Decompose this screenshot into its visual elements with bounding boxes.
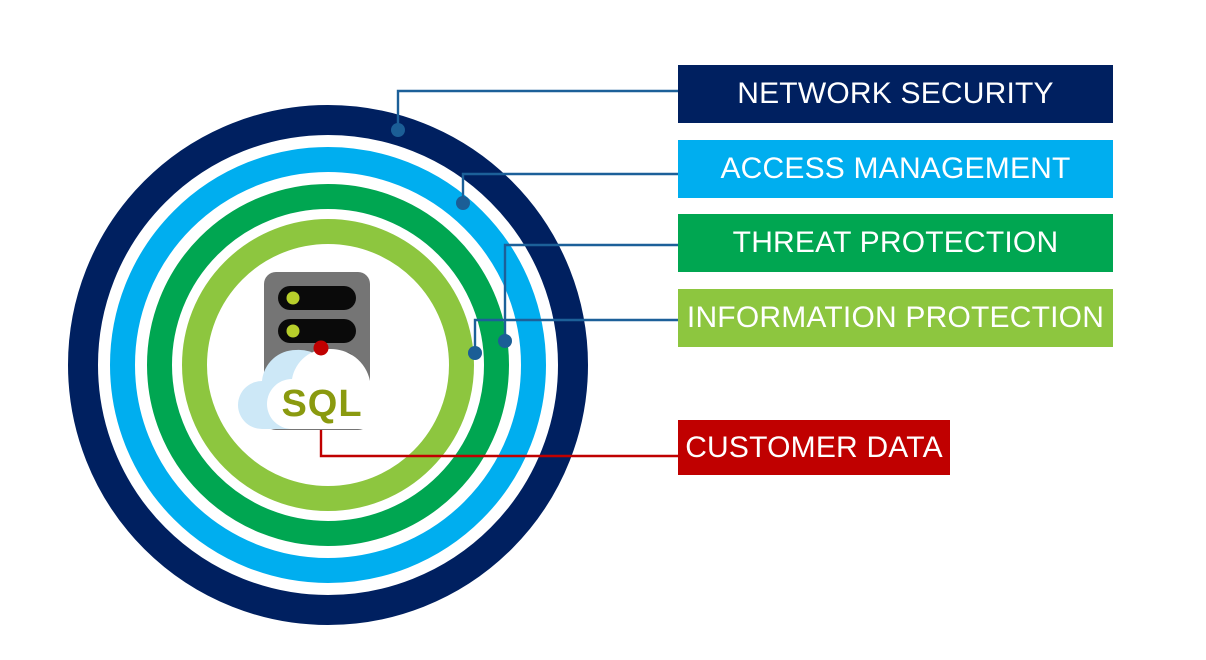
server-led-2: [287, 325, 300, 338]
label-text-access-management: ACCESS MANAGEMENT: [720, 154, 1070, 184]
server-led-1: [287, 292, 300, 305]
label-text-threat-protection: THREAT PROTECTION: [733, 228, 1059, 258]
connector-dot-customer-data: [314, 341, 329, 356]
label-bar-information-protection[interactable]: INFORMATION PROTECTION: [678, 289, 1113, 347]
diagram-canvas: SQL NETWORK SECURITY ACCESS MANAGEMENT T…: [0, 0, 1206, 660]
label-text-customer-data: CUSTOMER DATA: [685, 433, 943, 463]
connector-dot-access-management: [456, 196, 470, 210]
label-text-network-security: NETWORK SECURITY: [737, 79, 1054, 109]
label-bar-threat-protection[interactable]: THREAT PROTECTION: [678, 214, 1113, 272]
label-bar-network-security[interactable]: NETWORK SECURITY: [678, 65, 1113, 123]
sql-wordmark: SQL: [281, 383, 362, 425]
azure-sql-database-icon[interactable]: SQL: [238, 272, 386, 430]
connector-line-network-security: [398, 91, 678, 130]
connector-dot-network-security: [391, 123, 405, 137]
connector-dot-information-protection: [468, 346, 482, 360]
label-bar-customer-data[interactable]: CUSTOMER DATA: [678, 420, 950, 475]
label-text-information-protection: INFORMATION PROTECTION: [687, 303, 1104, 333]
label-bar-access-management[interactable]: ACCESS MANAGEMENT: [678, 140, 1113, 198]
connector-dot-threat-protection: [498, 334, 512, 348]
